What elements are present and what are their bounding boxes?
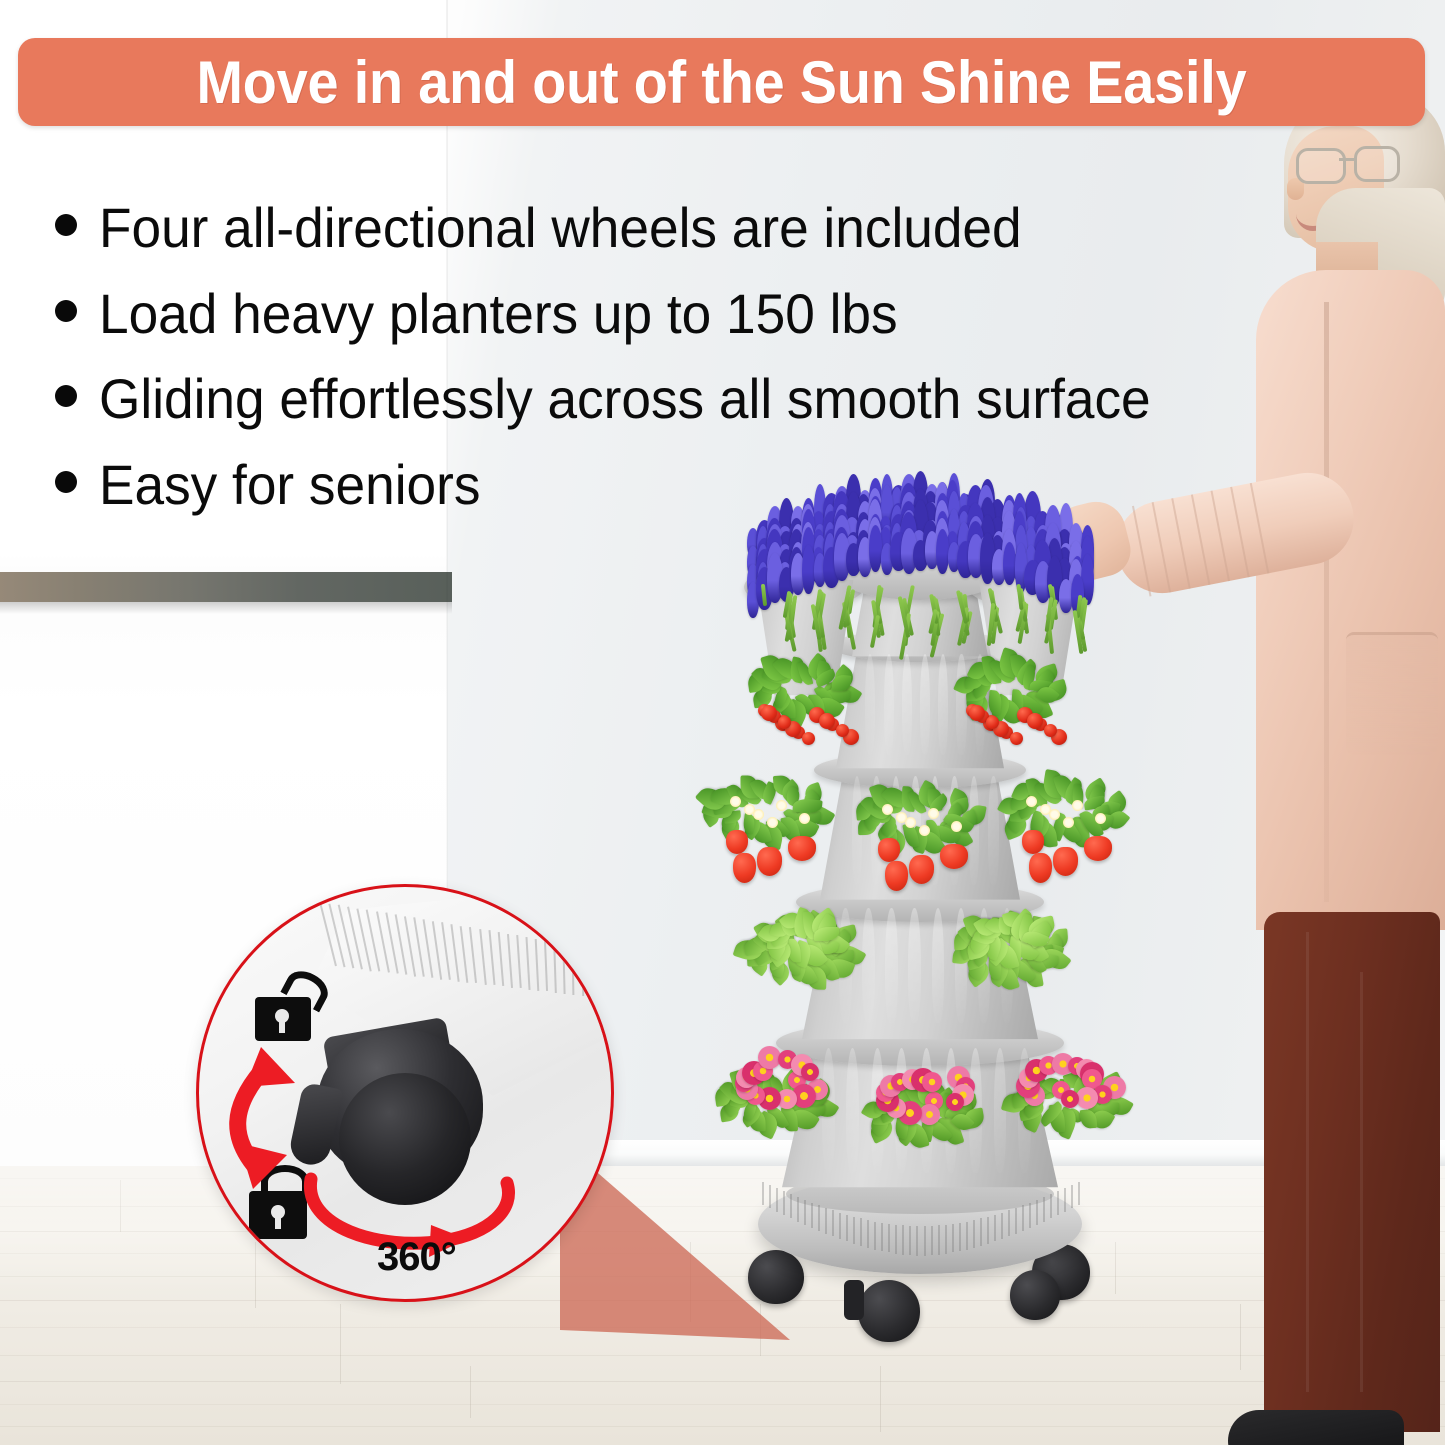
- list-item-label: Easy for seniors: [99, 449, 480, 521]
- list-item: Load heavy planters up to 150 lbs: [55, 278, 1435, 350]
- list-item-label: Load heavy planters up to 150 lbs: [99, 278, 898, 350]
- bullet-dot-icon: [55, 471, 77, 493]
- header-banner: Move in and out of the Sun Shine Easily: [18, 38, 1425, 126]
- banner-title: Move in and out of the Sun Shine Easily: [197, 48, 1247, 117]
- eyeglasses-bridge: [1339, 158, 1355, 161]
- shoe: [1228, 1410, 1404, 1445]
- bullet-dot-icon: [55, 385, 77, 407]
- list-item-label: Four all-directional wheels are included: [99, 192, 1022, 264]
- list-item: Gliding effortlessly across all smooth s…: [55, 363, 1435, 435]
- bullet-dot-icon: [55, 300, 77, 322]
- caster-detail-callout: 360°: [196, 884, 614, 1302]
- bullet-dot-icon: [55, 214, 77, 236]
- feature-list: Four all-directional wheels are included…: [55, 192, 1435, 535]
- list-item: Four all-directional wheels are included: [55, 192, 1435, 264]
- product-infographic: 360° Move in and out of the Sun Shine Ea…: [0, 0, 1445, 1445]
- eyeglasses-left-lens: [1296, 148, 1346, 184]
- trousers: [1264, 912, 1440, 1432]
- planter-tower: [710, 480, 1130, 1360]
- primrose-plants: [710, 480, 1130, 1360]
- rotation-label: 360°: [377, 1235, 456, 1280]
- list-item: Easy for seniors: [55, 449, 1435, 521]
- list-item-label: Gliding effortlessly across all smooth s…: [99, 363, 1151, 435]
- eyeglasses-right-lens: [1354, 146, 1400, 182]
- cardigan-pocket: [1346, 632, 1438, 755]
